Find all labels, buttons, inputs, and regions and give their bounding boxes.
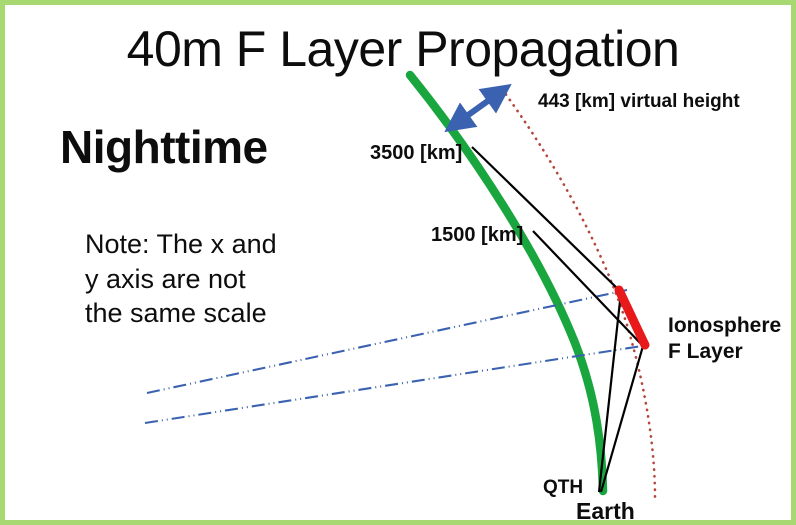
label-earth: Earth <box>576 499 635 525</box>
horizon-line-lower <box>145 346 642 423</box>
virtual-height-arrow <box>457 93 499 123</box>
earth-surface-curve <box>410 75 603 491</box>
label-ionosphere-f-layer: Ionosphere F Layer <box>668 313 781 366</box>
label-qth: QTH <box>543 477 583 498</box>
ray-3500km <box>472 147 621 292</box>
subtitle-nighttime: Nighttime <box>60 122 268 174</box>
scale-note: Note: The x and y axis are not the same … <box>85 227 277 331</box>
label-distance-1500km: 1500 [km] <box>431 224 523 246</box>
label-distance-3500km: 3500 [km] <box>370 142 462 164</box>
virtual-path-curve <box>502 89 655 497</box>
page-title: 40m F Layer Propagation <box>5 21 796 77</box>
slide-canvas: 40m F Layer Propagation Nighttime Note: … <box>0 0 796 525</box>
f-layer-segment <box>619 290 645 345</box>
label-virtual-height: 443 [km] virtual height <box>538 91 740 112</box>
